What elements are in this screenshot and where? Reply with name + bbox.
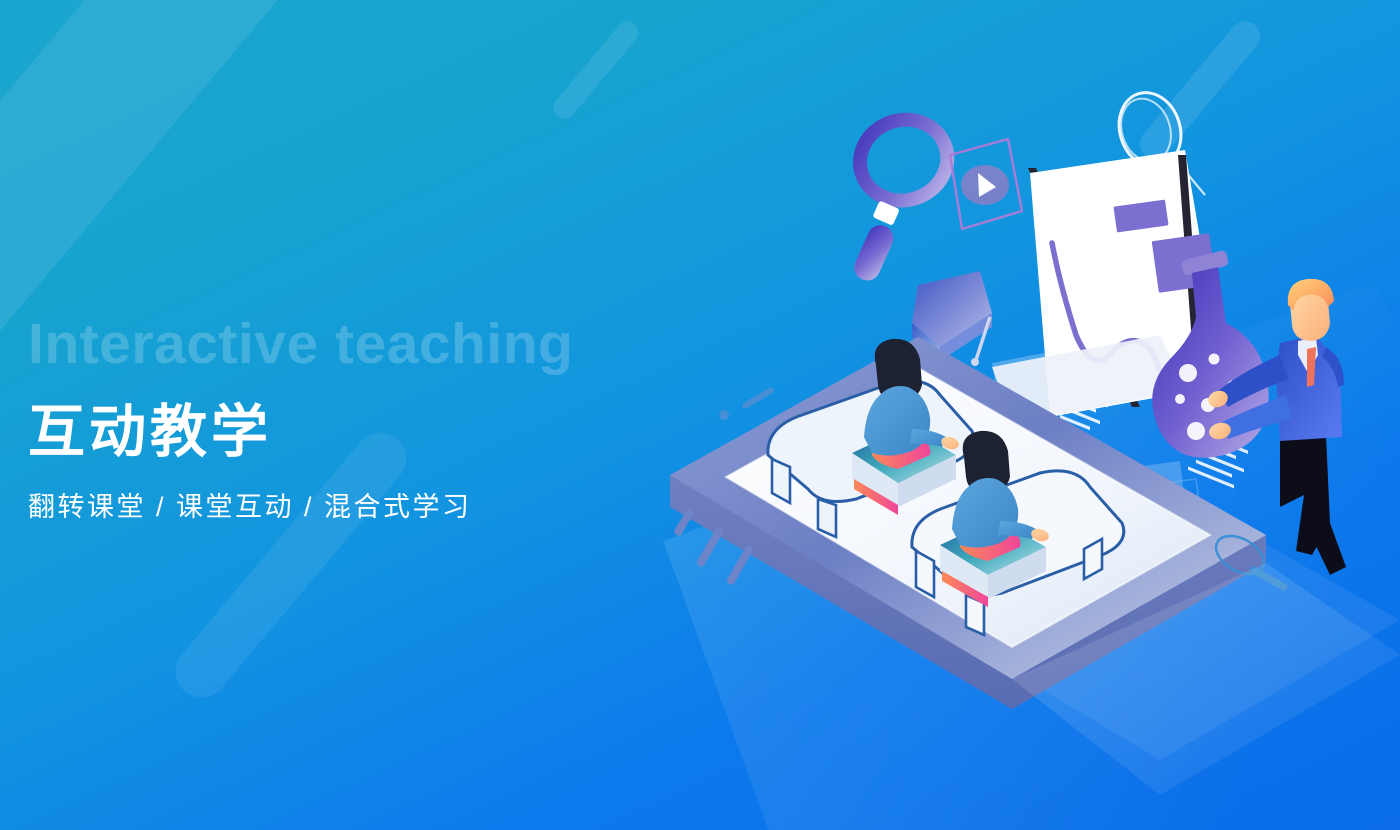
hero-illustration bbox=[640, 55, 1400, 830]
banner-root: Interactive teaching 互动教学 翻转课堂 / 课堂互动 / … bbox=[0, 0, 1400, 830]
video-play-icon bbox=[950, 139, 1022, 229]
magnifier-icon bbox=[809, 108, 979, 290]
diagonal-stripe-small-top bbox=[549, 17, 643, 123]
